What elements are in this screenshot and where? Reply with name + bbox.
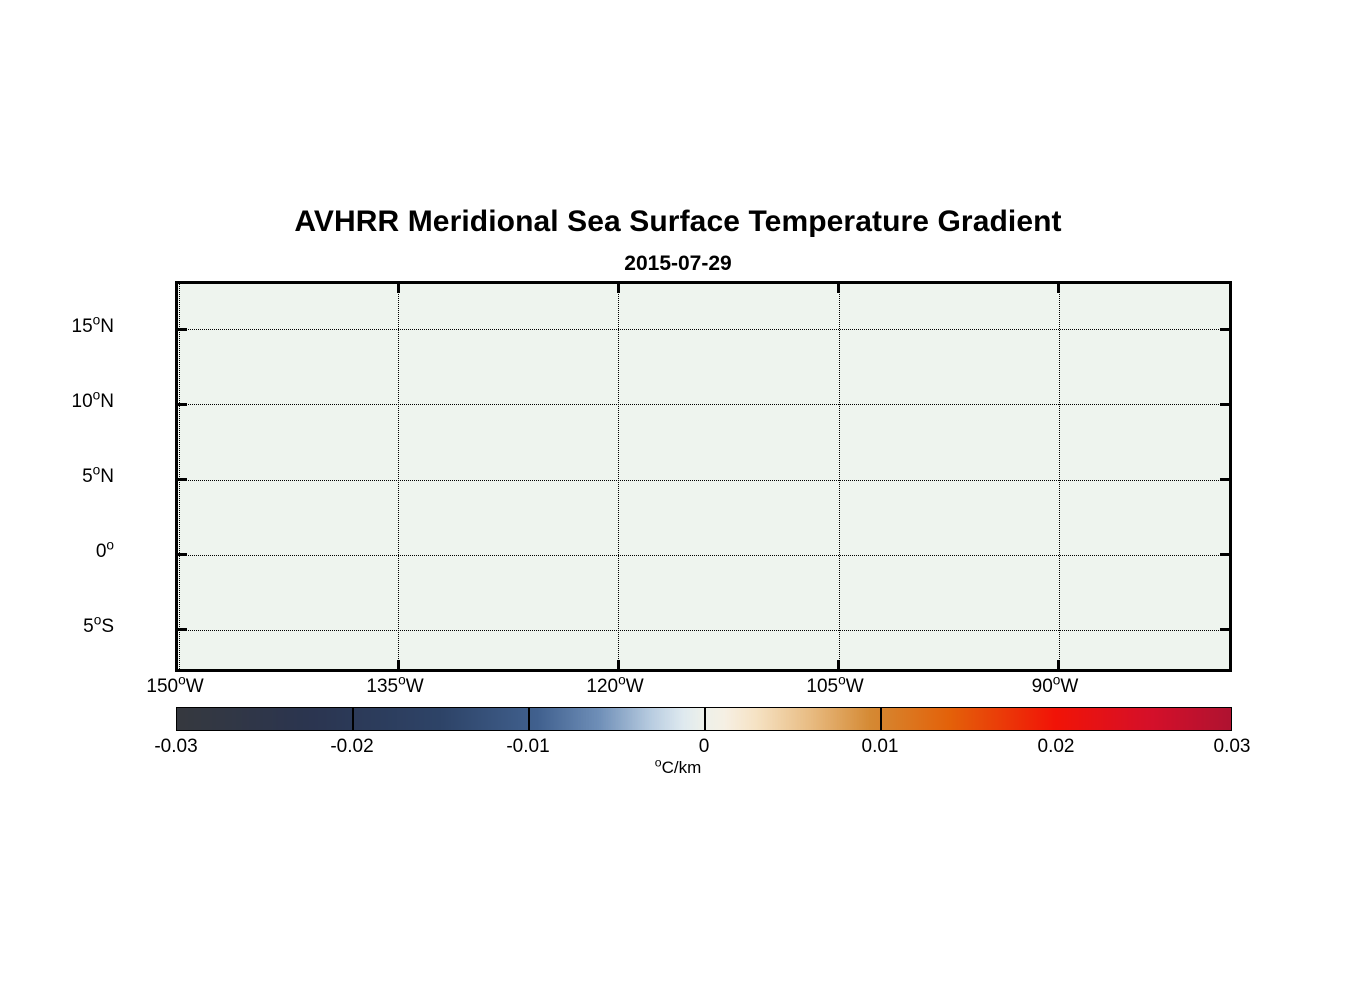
xtick-top-135W bbox=[397, 284, 400, 293]
ytick-right-15N bbox=[1220, 328, 1229, 331]
xtick-label-150W: 150oW bbox=[95, 676, 255, 698]
map-axes bbox=[175, 281, 1232, 672]
xtick-120W bbox=[617, 660, 620, 669]
sst-gradient-field bbox=[178, 284, 1229, 669]
xtick-label-105W: 105oW bbox=[755, 676, 915, 698]
cbar-tick-pos001 bbox=[704, 707, 706, 731]
xtick-label-135W: 135oW bbox=[315, 676, 475, 698]
cbar-tick-zero bbox=[528, 707, 530, 731]
xtick-label-120W: 120oW bbox=[535, 676, 695, 698]
xtick-top-120W bbox=[617, 284, 620, 293]
cbar-tick-neg001 bbox=[352, 707, 354, 731]
figure-subtitle: 2015-07-29 bbox=[0, 252, 1356, 276]
ytick-right-5S bbox=[1220, 628, 1229, 631]
cbar-tick-pos002 bbox=[880, 707, 882, 731]
cbar-label-neg001: -0.01 bbox=[458, 736, 598, 758]
ytick-10N bbox=[178, 403, 187, 406]
cbar-label-pos003: 0.03 bbox=[1162, 736, 1302, 758]
ytick-label-5N: 5oN bbox=[0, 466, 114, 488]
ytick-label-15N: 15oN bbox=[0, 316, 114, 338]
colorbar-unit-label: oC/km bbox=[0, 758, 1356, 778]
xtick-top-90W bbox=[1057, 284, 1060, 293]
ytick-label-0: 0o bbox=[0, 541, 114, 563]
xtick-label-90W: 90oW bbox=[975, 676, 1135, 698]
xtick-top-105W bbox=[837, 284, 840, 293]
xtick-135W bbox=[397, 660, 400, 669]
ytick-right-0 bbox=[1220, 553, 1229, 556]
figure-title: AVHRR Meridional Sea Surface Temperature… bbox=[0, 205, 1356, 239]
ytick-right-5N bbox=[1220, 478, 1229, 481]
ytick-5N bbox=[178, 478, 187, 481]
ytick-label-10N: 10oN bbox=[0, 391, 114, 413]
figure-canvas: AVHRR Meridional Sea Surface Temperature… bbox=[0, 0, 1356, 1000]
ytick-right-10N bbox=[1220, 403, 1229, 406]
cbar-label-pos001: 0.01 bbox=[810, 736, 950, 758]
xtick-90W bbox=[1057, 660, 1060, 669]
cbar-label-pos002: 0.02 bbox=[986, 736, 1126, 758]
ytick-5S bbox=[178, 628, 187, 631]
xtick-105W bbox=[837, 660, 840, 669]
cbar-label-neg003: -0.03 bbox=[106, 736, 246, 758]
ytick-0 bbox=[178, 553, 187, 556]
cbar-label-neg002: -0.02 bbox=[282, 736, 422, 758]
ytick-15N bbox=[178, 328, 187, 331]
ytick-label-5S: 5oS bbox=[0, 616, 114, 638]
